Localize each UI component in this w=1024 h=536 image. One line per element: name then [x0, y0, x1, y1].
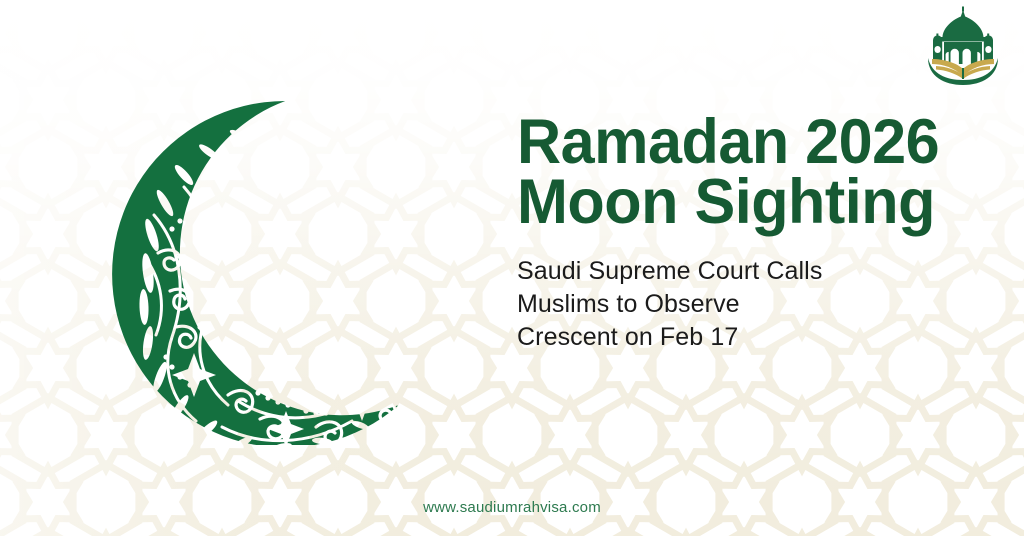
ramadan-moon-sighting-banner: Ramadan 2026 Moon Sighting Saudi Supreme… [0, 0, 1024, 536]
subtitle-line-1: Saudi Supreme Court Calls [517, 255, 937, 288]
brand-logo[interactable] [920, 6, 1006, 86]
headline-line-2: Moon Sighting [517, 172, 924, 232]
copy-block: Ramadan 2026 Moon Sighting Saudi Supreme… [517, 112, 937, 355]
crescent-shape [112, 101, 399, 445]
subtitle-line-3: Crescent on Feb 17 [517, 321, 937, 354]
headline-line-1: Ramadan 2026 [517, 112, 924, 172]
subtitle: Saudi Supreme Court Calls Muslims to Obs… [517, 255, 937, 355]
ornate-crescent-moon [110, 95, 465, 445]
subtitle-line-2: Muslims to Observe [517, 288, 937, 321]
website-url[interactable]: www.saudiumrahvisa.com [0, 499, 1024, 516]
mosque-icon [933, 7, 993, 65]
page-title: Ramadan 2026 Moon Sighting [517, 112, 924, 233]
